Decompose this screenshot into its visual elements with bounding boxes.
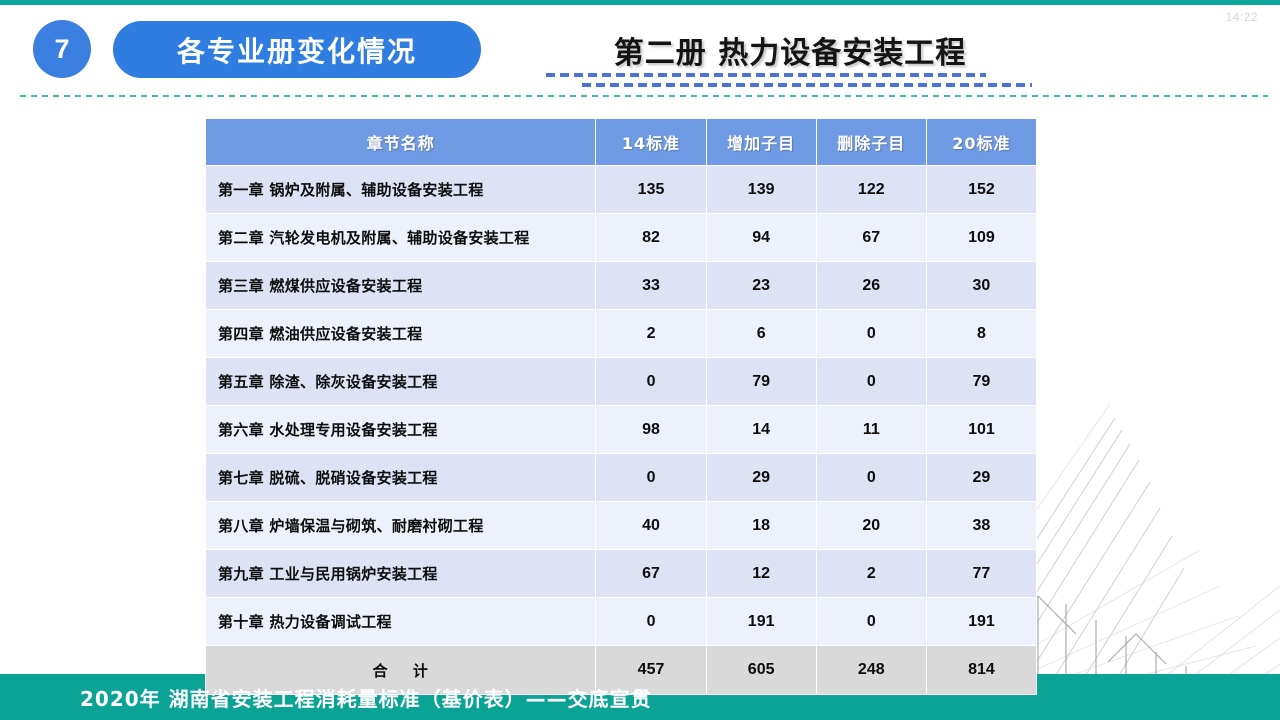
table-row[interactable]: 第五章 除渣、除灰设备安装工程 0 79 0 79 [206, 358, 1037, 406]
changes-table: 章节名称 14标准 增加子目 删除子目 20标准 第一章 锅炉及附属、辅助设备安… [205, 118, 1037, 695]
cell-total-added: 605 [706, 646, 816, 695]
slide-header: 7 各专业册变化情况 第二册 热力设备安装工程 [0, 0, 1280, 100]
table-header-row: 章节名称 14标准 增加子目 删除子目 20标准 [206, 119, 1037, 166]
cell-std14: 33 [596, 262, 706, 310]
table-row[interactable]: 第二章 汽轮发电机及附属、辅助设备安装工程 82 94 67 109 [206, 214, 1037, 262]
cell-std20: 191 [926, 598, 1036, 646]
table-row[interactable]: 第八章 炉墙保温与砌筑、耐磨衬砌工程 40 18 20 38 [206, 502, 1037, 550]
cell-chapter-name: 第八章 炉墙保温与砌筑、耐磨衬砌工程 [206, 502, 596, 550]
cell-std14: 2 [596, 310, 706, 358]
cell-std14: 82 [596, 214, 706, 262]
cell-total-label: 合 计 [206, 646, 596, 695]
cell-added: 18 [706, 502, 816, 550]
cell-removed: 0 [816, 310, 926, 358]
cell-std20: 29 [926, 454, 1036, 502]
cell-chapter-name: 第四章 燃油供应设备安装工程 [206, 310, 596, 358]
cell-removed: 122 [816, 166, 926, 214]
column-header-removed[interactable]: 删除子目 [816, 119, 926, 166]
cell-added: 14 [706, 406, 816, 454]
cell-total-std20: 814 [926, 646, 1036, 695]
cell-std20: 152 [926, 166, 1036, 214]
cell-std20: 101 [926, 406, 1036, 454]
cell-chapter-name: 第三章 燃煤供应设备安装工程 [206, 262, 596, 310]
cell-std14: 98 [596, 406, 706, 454]
top-accent-strip [0, 0, 1280, 5]
table-row[interactable]: 第六章 水处理专用设备安装工程 98 14 11 101 [206, 406, 1037, 454]
cell-removed: 67 [816, 214, 926, 262]
cell-added: 6 [706, 310, 816, 358]
table-header: 章节名称 14标准 增加子目 删除子目 20标准 [206, 119, 1037, 166]
page-title: 第二册 热力设备安装工程 [560, 28, 1020, 72]
cell-std20: 77 [926, 550, 1036, 598]
cell-added: 29 [706, 454, 816, 502]
cell-removed: 2 [816, 550, 926, 598]
table-row[interactable]: 第四章 燃油供应设备安装工程 2 6 0 8 [206, 310, 1037, 358]
cell-std20: 38 [926, 502, 1036, 550]
cell-chapter-name: 第六章 水处理专用设备安装工程 [206, 406, 596, 454]
table-body: 第一章 锅炉及附属、辅助设备安装工程 135 139 122 152 第二章 汽… [206, 166, 1037, 695]
cell-added: 94 [706, 214, 816, 262]
section-title-pill: 各专业册变化情况 [113, 21, 481, 78]
cell-chapter-name: 第十章 热力设备调试工程 [206, 598, 596, 646]
section-number-badge: 7 [33, 20, 91, 78]
title-underline-dash-1 [546, 73, 986, 77]
cell-added: 191 [706, 598, 816, 646]
table-row[interactable]: 第三章 燃煤供应设备安装工程 33 23 26 30 [206, 262, 1037, 310]
cell-chapter-name: 第七章 脱硫、脱硝设备安装工程 [206, 454, 596, 502]
table-row[interactable]: 第一章 锅炉及附属、辅助设备安装工程 135 139 122 152 [206, 166, 1037, 214]
cell-added: 79 [706, 358, 816, 406]
clock-label: 14:22 [1225, 10, 1258, 24]
table-row[interactable]: 第九章 工业与民用锅炉安装工程 67 12 2 77 [206, 550, 1037, 598]
cell-std20: 109 [926, 214, 1036, 262]
column-header-added[interactable]: 增加子目 [706, 119, 816, 166]
cell-removed: 20 [816, 502, 926, 550]
cell-removed: 0 [816, 358, 926, 406]
cell-std14: 0 [596, 358, 706, 406]
cell-std14: 67 [596, 550, 706, 598]
cell-std14: 135 [596, 166, 706, 214]
header-divider-dotted [20, 95, 1268, 97]
cell-total-std14: 457 [596, 646, 706, 695]
cell-chapter-name: 第五章 除渣、除灰设备安装工程 [206, 358, 596, 406]
cell-std20: 30 [926, 262, 1036, 310]
column-header-std14[interactable]: 14标准 [596, 119, 706, 166]
cell-std14: 0 [596, 598, 706, 646]
title-underline-dash-2 [582, 83, 1032, 87]
cell-added: 139 [706, 166, 816, 214]
cell-std20: 79 [926, 358, 1036, 406]
cell-total-removed: 248 [816, 646, 926, 695]
cell-removed: 26 [816, 262, 926, 310]
cell-chapter-name: 第九章 工业与民用锅炉安装工程 [206, 550, 596, 598]
cell-added: 12 [706, 550, 816, 598]
changes-table-container: 章节名称 14标准 增加子目 删除子目 20标准 第一章 锅炉及附属、辅助设备安… [205, 118, 1037, 695]
table-row[interactable]: 第十章 热力设备调试工程 0 191 0 191 [206, 598, 1037, 646]
cell-std14: 40 [596, 502, 706, 550]
cell-chapter-name: 第一章 锅炉及附属、辅助设备安装工程 [206, 166, 596, 214]
cell-chapter-name: 第二章 汽轮发电机及附属、辅助设备安装工程 [206, 214, 596, 262]
cell-removed: 0 [816, 598, 926, 646]
cell-added: 23 [706, 262, 816, 310]
table-row[interactable]: 第七章 脱硫、脱硝设备安装工程 0 29 0 29 [206, 454, 1037, 502]
column-header-std20[interactable]: 20标准 [926, 119, 1036, 166]
cell-std14: 0 [596, 454, 706, 502]
cell-removed: 0 [816, 454, 926, 502]
table-total-row[interactable]: 合 计 457 605 248 814 [206, 646, 1037, 695]
cell-removed: 11 [816, 406, 926, 454]
cell-std20: 8 [926, 310, 1036, 358]
column-header-chapter[interactable]: 章节名称 [206, 119, 596, 166]
